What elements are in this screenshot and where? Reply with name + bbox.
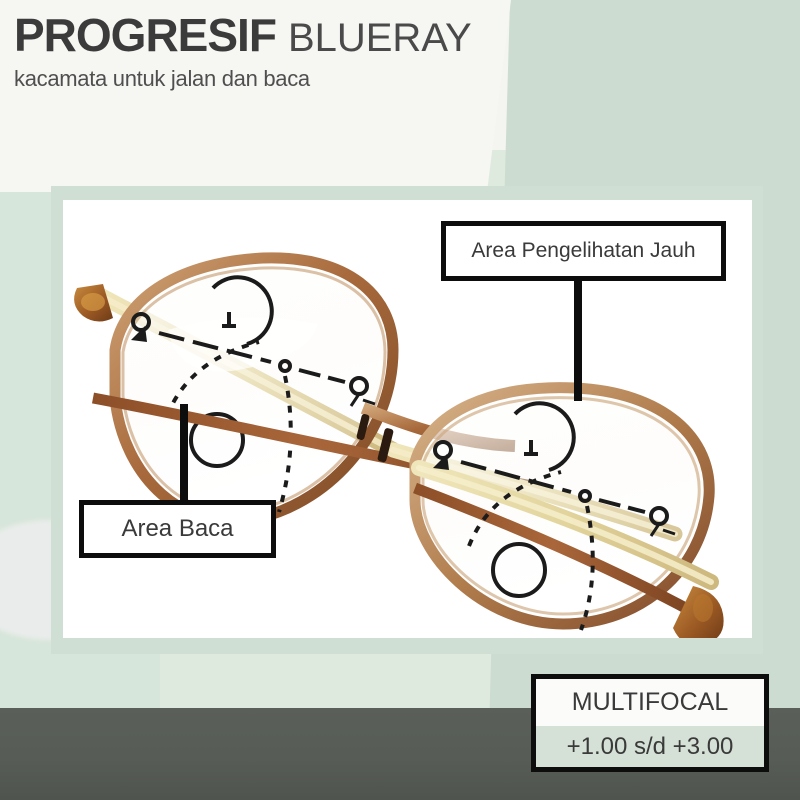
temple-tip-left (74, 284, 113, 322)
badge-title: MULTIFOCAL (572, 688, 729, 717)
badge-title-row: MULTIFOCAL (536, 679, 764, 726)
page-title-bold: PROGRESIF (14, 12, 276, 58)
callout-far-vision-label: Area Pengelihatan Jauh (471, 239, 695, 263)
leader-line-far-vision (574, 281, 582, 401)
advertisement-canvas: PROGRESIF BLUERAY kacamata untuk jalan d… (0, 0, 800, 800)
callout-far-vision: Area Pengelihatan Jauh (441, 221, 726, 281)
leader-line-reading (180, 404, 188, 504)
page-title-light: BLUERAY (288, 18, 472, 58)
badge-range: +1.00 s/d +3.00 (567, 733, 734, 761)
multifocal-badge: MULTIFOCAL +1.00 s/d +3.00 (531, 674, 769, 772)
temple-tip-right (673, 586, 724, 638)
badge-range-row: +1.00 s/d +3.00 (536, 726, 764, 767)
header: PROGRESIF BLUERAY kacamata untuk jalan d… (14, 12, 614, 90)
title-row: PROGRESIF BLUERAY (14, 12, 614, 58)
callout-reading: Area Baca (79, 500, 276, 558)
callout-reading-label: Area Baca (121, 515, 233, 543)
page-subtitle: kacamata untuk jalan dan baca (14, 68, 614, 90)
